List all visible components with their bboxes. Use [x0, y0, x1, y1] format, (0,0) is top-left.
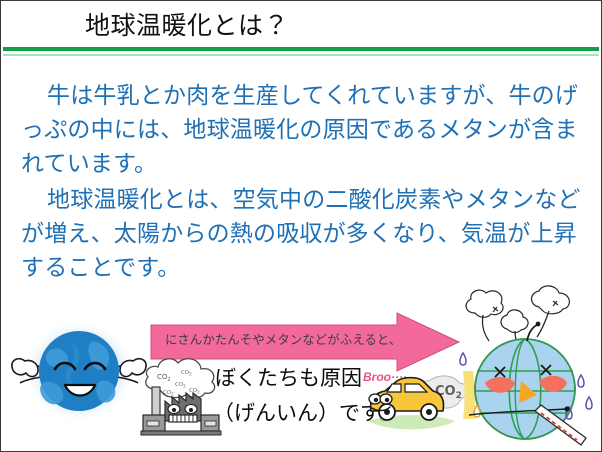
- caption-line-1: ぼくたちも原因: [215, 365, 362, 391]
- illustration-area: にさんかたんそやメタンなどがふえると、 CO2 CO2 CO2 CO2 CO2: [1, 287, 601, 451]
- co2-label-4: CO2: [163, 390, 174, 397]
- title-divider-thick: [3, 47, 599, 51]
- title-divider-thin: [3, 54, 599, 56]
- body-text-block: 牛は牛乳とか肉を生産してくれていますが、牛のげっぷの中には、地球温暖化の原因であ…: [21, 79, 587, 287]
- slide-canvas: 地球温暖化とは？ 牛は牛乳とか肉を生産してくれていますが、牛のげっぷの中には、地…: [0, 0, 602, 452]
- smoking-factory: CO2 CO2 CO2 CO2 CO2: [139, 353, 223, 444]
- body-paragraph-1: 牛は牛乳とか肉を生産してくれていますが、牛のげっぷの中には、地球温暖化の原因であ…: [21, 79, 587, 181]
- smiling-earth-character: [9, 315, 149, 432]
- co2-label-3: CO2: [175, 382, 186, 389]
- sick-earth-svg: [453, 285, 601, 451]
- title-block: 地球温暖化とは？: [1, 1, 601, 47]
- factory-svg: CO2 CO2 CO2 CO2 CO2: [139, 353, 223, 439]
- co2-label-2: CO2: [181, 370, 192, 377]
- feverish-earth-character: [453, 285, 601, 452]
- arrow-label: にさんかたんそやメタンなどがふえると、: [165, 332, 415, 348]
- body-paragraph-2: 地球温暖化とは、空気中の二酸化炭素やメタンなどが増え、太陽からの熱の吸収が多くな…: [21, 183, 587, 285]
- smiling-earth-svg: [9, 315, 149, 427]
- page-title: 地球温暖化とは？: [85, 10, 289, 42]
